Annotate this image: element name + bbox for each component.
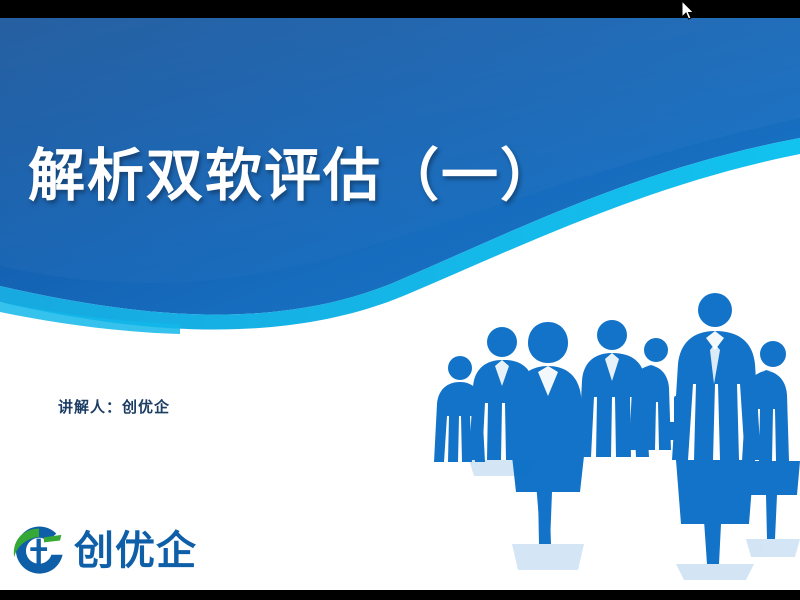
presenter-label: 讲解人：创优企 bbox=[58, 396, 170, 417]
brand-logo-icon bbox=[8, 520, 70, 582]
brand-logo-text: 创优企 bbox=[74, 531, 197, 571]
presentation-slide: 解析双软评估（一） 讲解人：创优企 bbox=[0, 0, 800, 600]
business-people-silhouette-icon bbox=[430, 280, 800, 580]
letterbox-bottom bbox=[0, 590, 800, 600]
mouse-pointer-icon bbox=[680, 0, 696, 22]
brand-logo: 创优企 bbox=[8, 516, 197, 586]
page-title: 解析双软评估（一） bbox=[28, 130, 559, 212]
